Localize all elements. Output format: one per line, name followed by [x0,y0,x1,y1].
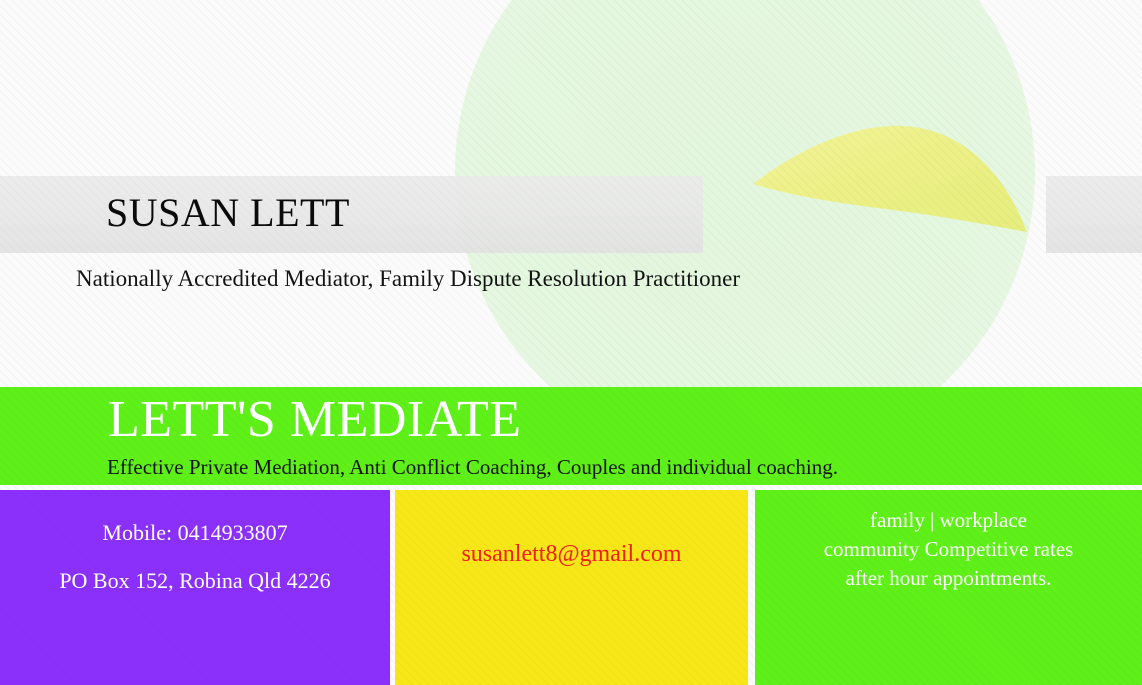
name-band-right [1046,176,1142,253]
business-banner: LETT'S MEDIATE Effective Private Mediati… [0,387,1142,485]
leaf-decoration [752,120,1028,238]
email-panel: susanlett8@gmail.com [395,490,748,685]
person-role: Nationally Accredited Mediator, Family D… [76,262,740,295]
name-band-right-texture [1046,176,1142,253]
services-line-3: after hour appointments. [755,564,1142,593]
business-name: LETT'S MEDIATE [108,389,522,451]
contact-panel: Mobile: 0414933807 PO Box 152, Robina Ql… [0,490,390,685]
services-line-1: family | workplace [755,506,1142,535]
contact-address: PO Box 152, Robina Qld 4226 [0,566,390,596]
services-list: family | workplace community Competitive… [755,506,1142,593]
person-name: SUSAN LETT [106,188,350,237]
business-card: SUSAN LETT Nationally Accredited Mediato… [0,0,1142,685]
business-tagline: Effective Private Mediation, Anti Confli… [107,453,838,481]
contact-email[interactable]: susanlett8@gmail.com [395,538,748,570]
contact-mobile[interactable]: Mobile: 0414933807 [0,518,390,548]
services-line-2: community Competitive rates [755,535,1142,564]
services-panel: family | workplace community Competitive… [755,490,1142,685]
